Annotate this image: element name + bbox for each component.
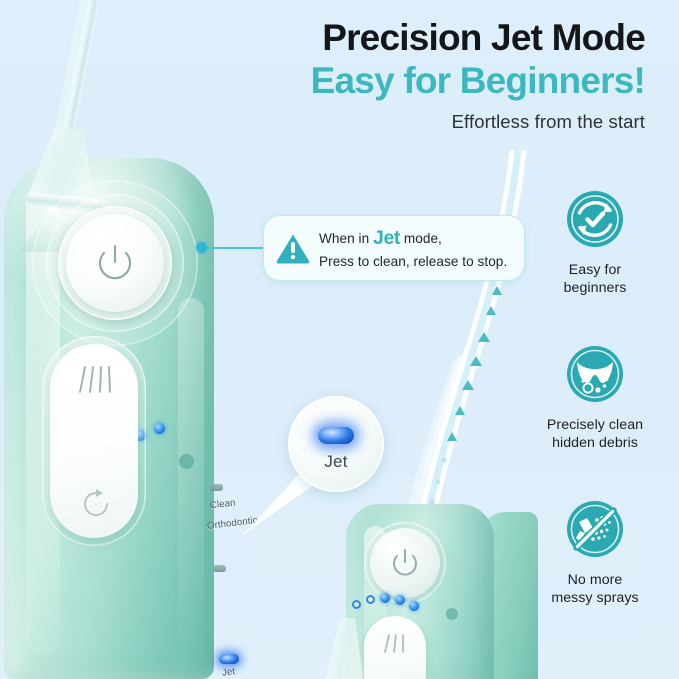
headline-secondary: Easy for Beginners! — [215, 60, 645, 101]
mode-label-jet: Jet — [221, 666, 235, 679]
callout-text-line2: Press to clean, release to stop. — [319, 252, 507, 271]
feature-label: Precisely clean hidden debris — [525, 416, 665, 452]
jet-mode-callout: When in Jet mode, Press to clean, releas… — [263, 215, 525, 281]
feature-easy-for-beginners: Easy for beginners — [525, 190, 665, 297]
callout-anchor-dot — [196, 242, 207, 253]
circular-arrow-icon — [78, 486, 114, 522]
led-indicator — [352, 600, 361, 609]
magnifier-label: Jet — [288, 452, 384, 472]
power-icon — [388, 546, 422, 580]
mode-label-clean: Clean — [209, 497, 236, 511]
feature-label-line1: Easy for — [569, 262, 621, 278]
led-indicator — [395, 595, 405, 605]
feature-label-line2: hidden debris — [552, 435, 638, 451]
mode-dash — [213, 565, 226, 572]
callout-connector-line — [203, 247, 265, 249]
feature-label-line2: beginners — [564, 280, 627, 296]
callout-jet-word: Jet — [373, 227, 400, 249]
feature-label-line1: No more — [568, 572, 623, 588]
mode-lines-icon — [380, 632, 410, 654]
mode-dash — [210, 484, 223, 491]
warning-triangle-icon — [276, 233, 310, 264]
headline-primary: Precision Jet Mode — [215, 18, 645, 58]
magnified-jet-led — [318, 427, 354, 444]
callout-text-after: mode, — [400, 231, 442, 246]
refresh-check-icon — [566, 190, 624, 248]
feature-label-line2: messy sprays — [551, 590, 638, 606]
led-indicator — [366, 595, 375, 604]
feature-label: No more messy sprays — [525, 571, 665, 607]
feature-label-line1: Precisely clean — [547, 417, 643, 433]
led-indicator — [154, 423, 165, 434]
callout-text-before: When in — [319, 231, 373, 246]
nozzle-stem — [52, 0, 99, 148]
magnifier-bubble — [288, 396, 384, 492]
sensor-dot — [179, 454, 194, 469]
main-water-flosser-device: Clean Orthodontic Jet COSLUS — [0, 118, 244, 679]
product-marketing-image: Precision Jet Mode Easy for Beginners! E… — [0, 0, 679, 679]
led-indicator — [380, 593, 390, 603]
feature-no-messy-sprays: No more messy sprays — [525, 500, 665, 607]
mini-sensor-dot — [446, 608, 458, 620]
feature-label: Easy for beginners — [525, 261, 665, 297]
power-icon — [92, 240, 138, 286]
feature-precisely-clean: Precisely clean hidden debris — [525, 345, 665, 452]
callout-text: When in Jet mode, Press to clean, releas… — [319, 225, 507, 272]
headline-subtitle: Effortless from the start — [215, 111, 645, 133]
mode-lines-icon — [72, 364, 116, 394]
teeth-bubbles-icon — [566, 345, 624, 403]
led-indicator — [409, 601, 419, 611]
headline-block: Precision Jet Mode Easy for Beginners! E… — [215, 18, 645, 133]
jet-led-active-indicator — [219, 654, 239, 664]
no-spray-icon — [566, 500, 624, 558]
